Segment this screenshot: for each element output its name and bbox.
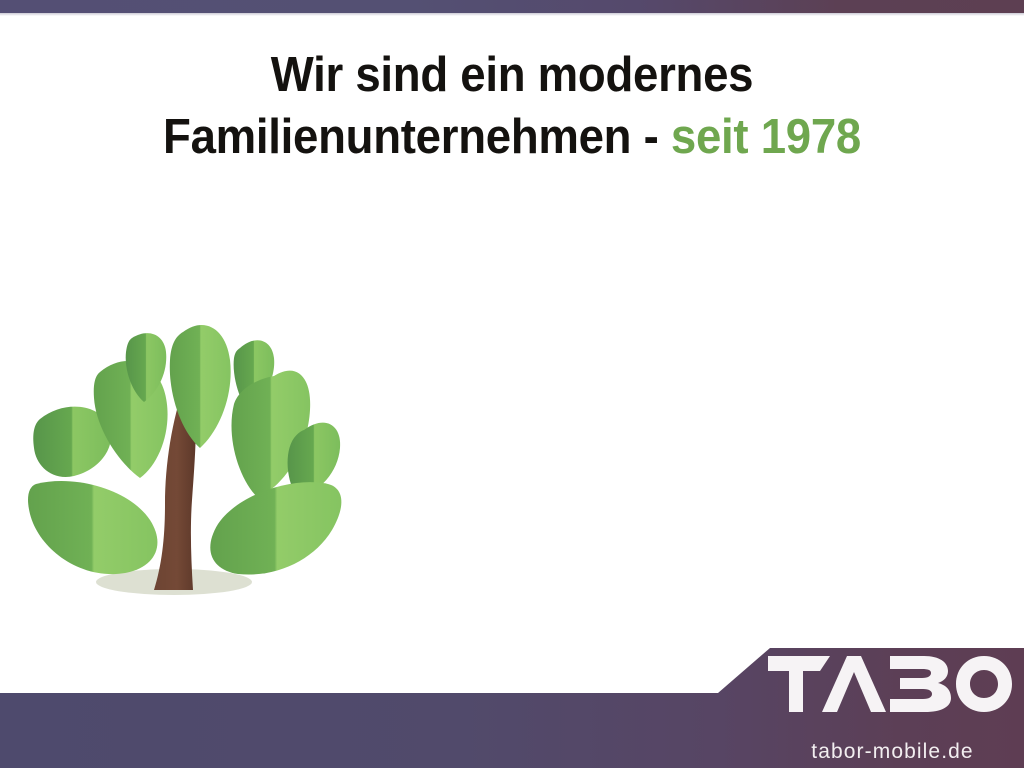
top-accent-bar-shadow: [0, 13, 1024, 16]
tree-illustration: [22, 252, 352, 610]
title-line-2: Familienunternehmen - seit 1978: [36, 106, 988, 168]
tree-leaf-2: [28, 481, 157, 574]
footer-bar: tabor-mobile.de: [0, 636, 1024, 768]
brand-logo[interactable]: tabor-mobile.de: [768, 656, 1018, 768]
presentation-slide: Wir sind ein modernes Familienunternehme…: [0, 0, 1024, 768]
title-line-1: Wir sind ein modernes: [36, 44, 988, 106]
title-line-2-main: Familienunternehmen -: [163, 110, 671, 164]
page-title: Wir sind ein modernes Familienunternehme…: [0, 44, 1024, 168]
tabor-logo-wordmark: [768, 656, 1013, 712]
logo-tagline: tabor-mobile.de: [771, 740, 1014, 764]
tree-leaf-9: [210, 482, 341, 574]
top-accent-bar: [0, 0, 1024, 13]
title-accent-year: seit 1978: [671, 110, 861, 164]
